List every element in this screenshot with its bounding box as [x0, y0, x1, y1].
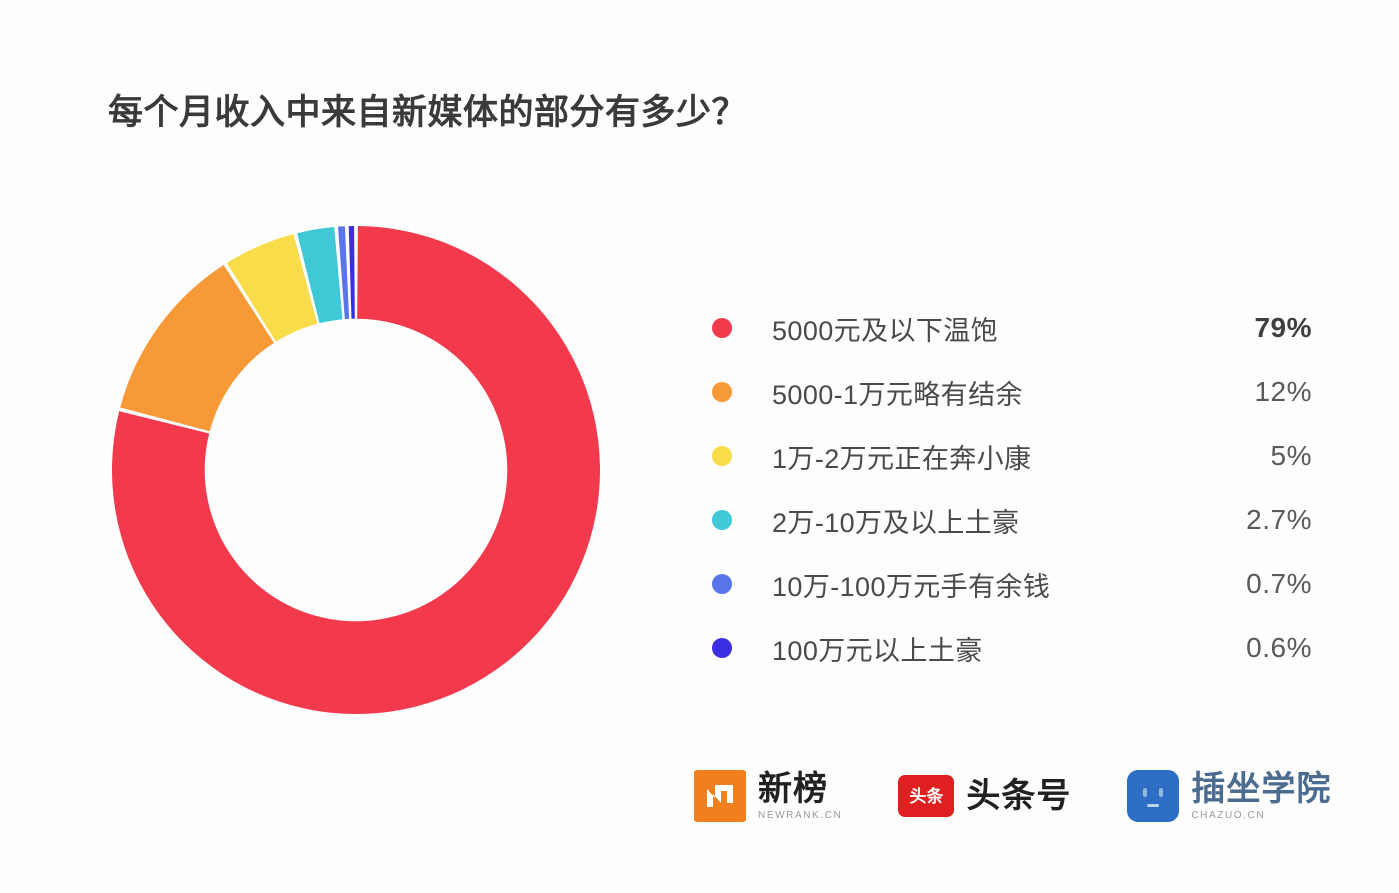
- newrank-mark-icon: [694, 770, 746, 822]
- legend-item[interactable]: 2万-10万及以上土豪 2.7%: [712, 488, 1312, 552]
- donut-chart: [108, 222, 604, 718]
- chazuo-text-block: 插坐学院 CHAZUO.CN: [1191, 772, 1331, 821]
- footer-logo-bar: 新榜 NEWRANK.CN 头条 头条号 插坐学院 CHAZU: [694, 770, 1331, 822]
- legend-color-swatch-icon: [712, 638, 732, 658]
- legend-item-label: 1万-2万元正在奔小康: [772, 437, 1031, 476]
- logo-toutiaohao[interactable]: 头条 头条号: [898, 775, 1071, 817]
- donut-slice-group: [112, 226, 600, 714]
- legend-item-value: 5%: [1271, 440, 1312, 472]
- toutiao-mark-icon: 头条: [898, 775, 954, 817]
- legend-item[interactable]: 100万元以上土豪 0.6%: [712, 616, 1312, 680]
- toutiao-name: 头条号: [966, 779, 1071, 813]
- legend-item-value: 12%: [1254, 376, 1312, 408]
- legend-item-label: 10万-100万元手有余钱: [772, 565, 1050, 604]
- legend-item[interactable]: 5000元及以下温饱 79%: [712, 296, 1312, 360]
- chazuo-face-glyph-icon: [1130, 773, 1176, 819]
- legend-color-swatch-icon: [712, 382, 732, 402]
- chart-legend: 5000元及以下温饱 79% 5000-1万元略有结余 12% 1万-2万元正在…: [712, 296, 1312, 680]
- legend-item[interactable]: 1万-2万元正在奔小康 5%: [712, 424, 1312, 488]
- chart-title: 每个月收入中来自新媒体的部分有多少？: [108, 84, 747, 135]
- legend-color-swatch-icon: [712, 318, 732, 338]
- toutiao-mark-label: 头条: [909, 788, 943, 805]
- legend-item[interactable]: 5000-1万元略有结余 12%: [712, 360, 1312, 424]
- newrank-subtitle: NEWRANK.CN: [758, 811, 842, 821]
- legend-item-value: 0.6%: [1246, 632, 1312, 664]
- donut-slice[interactable]: [349, 226, 355, 319]
- legend-item-value: 2.7%: [1246, 504, 1312, 536]
- donut-svg: [108, 222, 604, 718]
- newrank-text-block: 新榜 NEWRANK.CN: [758, 772, 842, 821]
- legend-item-label: 5000元及以下温饱: [772, 309, 998, 348]
- legend-item-label: 5000-1万元略有结余: [772, 373, 1023, 412]
- legend-item-value: 0.7%: [1246, 568, 1312, 600]
- legend-item-label: 100万元以上土豪: [772, 629, 983, 668]
- newrank-n-glyph-icon: [701, 777, 739, 815]
- legend-color-swatch-icon: [712, 510, 732, 530]
- logo-chazuo[interactable]: 插坐学院 CHAZUO.CN: [1127, 770, 1331, 822]
- chart-page: 每个月收入中来自新媒体的部分有多少？ 5000元及以下温饱 79% 5000-1…: [0, 0, 1399, 893]
- legend-color-swatch-icon: [712, 446, 732, 466]
- legend-item[interactable]: 10万-100万元手有余钱 0.7%: [712, 552, 1312, 616]
- chazuo-subtitle: CHAZUO.CN: [1191, 811, 1331, 821]
- legend-item-label: 2万-10万及以上土豪: [772, 501, 1019, 540]
- newrank-name: 新榜: [758, 772, 842, 806]
- logo-newrank[interactable]: 新榜 NEWRANK.CN: [694, 770, 842, 822]
- toutiao-text-block: 头条号: [966, 779, 1071, 813]
- chazuo-mark-icon: [1127, 770, 1179, 822]
- legend-item-value: 79%: [1254, 312, 1312, 344]
- legend-color-swatch-icon: [712, 574, 732, 594]
- chazuo-name: 插坐学院: [1191, 772, 1331, 806]
